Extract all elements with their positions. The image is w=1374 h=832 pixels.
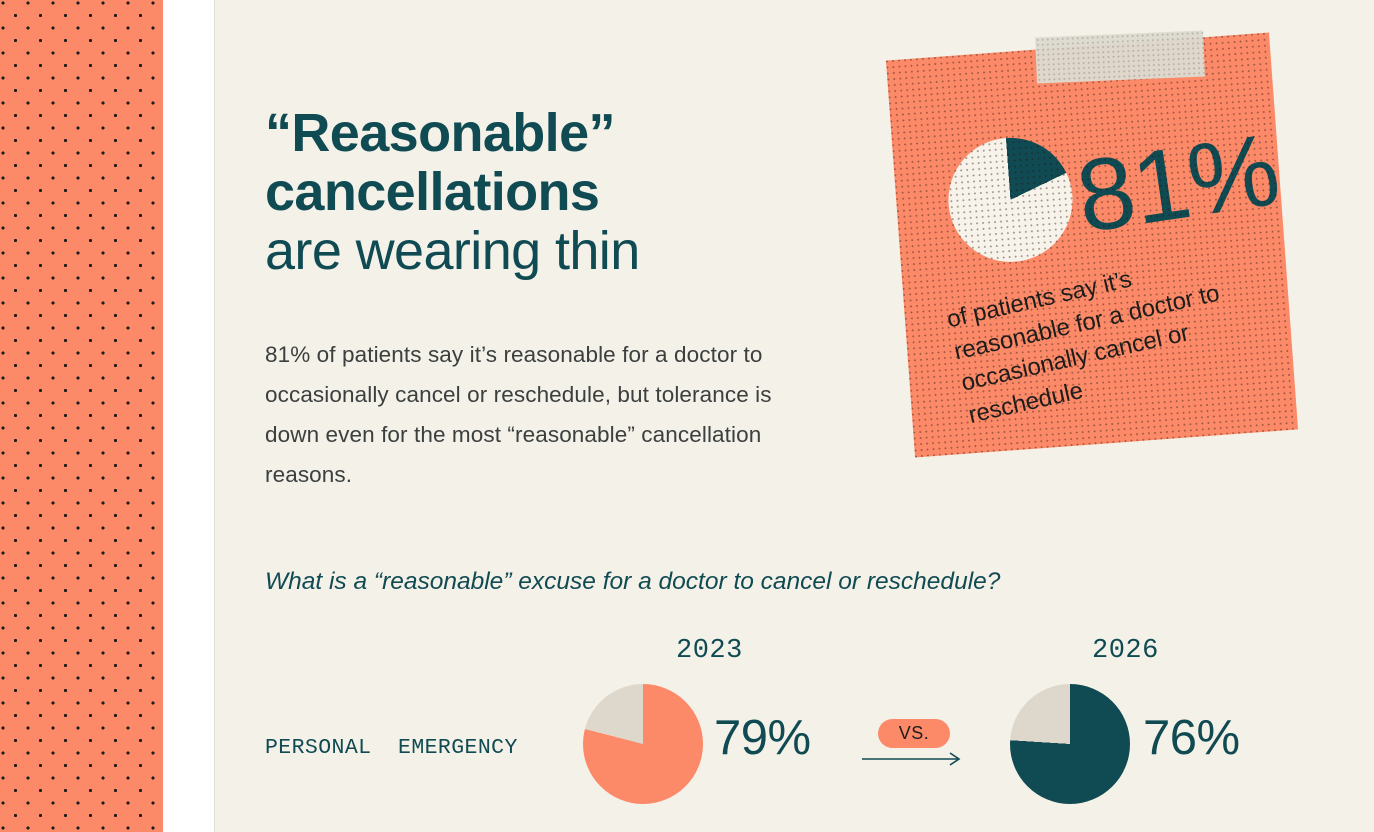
infographic-page: “Reasonable” cancellations are wearing t… — [0, 0, 1374, 832]
dotted-pattern-strip — [0, 0, 163, 832]
year-label-right: 2026 — [1092, 636, 1159, 666]
comparison-question: What is a “reasonable” excuse for a doct… — [265, 568, 1000, 596]
headline-light: are wearing thin — [265, 222, 885, 281]
arrow-right-icon — [862, 748, 966, 770]
year-label-left: 2023 — [676, 636, 743, 666]
deck-paragraph: 81% of patients say it’s reasonable for … — [265, 335, 825, 495]
page-title: “Reasonable” cancellations are wearing t… — [265, 104, 885, 281]
note-figure-value: 81% — [1071, 118, 1285, 248]
headline-strong: “Reasonable” cancellations — [265, 104, 885, 222]
note-pie-chart — [944, 133, 1077, 266]
white-gutter — [163, 0, 215, 832]
note-caption: of patients say it’s reasonable for a do… — [944, 237, 1275, 432]
sticky-note-card: 81% of patients say it’s reasonable for … — [888, 28, 1308, 478]
pie-chart-2026 — [1010, 684, 1130, 804]
washi-tape-icon — [1035, 31, 1205, 84]
value-2026: 76% — [1143, 714, 1240, 763]
vs-badge: VS. — [878, 719, 950, 748]
pie-chart-2023 — [583, 684, 703, 804]
category-label-personal-emergency: PERSONAL EMERGENCY — [265, 736, 518, 760]
value-2023: 79% — [714, 714, 811, 763]
sticky-note-body: 81% of patients say it’s reasonable for … — [886, 32, 1298, 457]
